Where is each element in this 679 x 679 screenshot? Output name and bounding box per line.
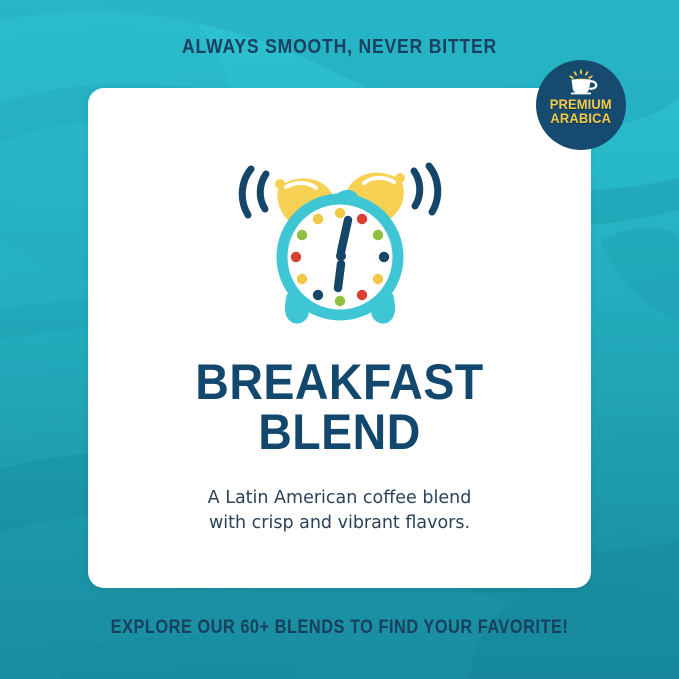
sound-wave-left xyxy=(242,169,266,215)
product-poster: ALWAYS SMOOTH, NEVER BITTER PREMIUM ARAB… xyxy=(0,0,679,679)
coffee-cup-icon xyxy=(562,69,600,95)
product-title-line2: BLEND xyxy=(106,408,574,458)
alarm-clock-icon xyxy=(224,146,456,336)
bottom-tagline: EXPLORE OUR 60+ BLENDS TO FIND YOUR FAVO… xyxy=(48,617,632,639)
product-description-line2: with crisp and vibrant flavors. xyxy=(88,511,591,536)
sound-wave-right xyxy=(414,166,438,212)
product-description: A Latin American coffee blend with crisp… xyxy=(88,486,591,536)
badge-label: PREMIUM ARABICA xyxy=(550,97,612,126)
product-description-line1: A Latin American coffee blend xyxy=(88,486,591,511)
premium-arabica-badge[interactable]: PREMIUM ARABICA xyxy=(536,60,626,150)
product-title-line1: BREAKFAST xyxy=(195,354,483,410)
product-card: BREAKFAST BLEND A Latin American coffee … xyxy=(88,88,591,588)
product-title: BREAKFAST BLEND xyxy=(106,358,574,457)
illustration-container xyxy=(88,146,591,336)
badge-label-line2: ARABICA xyxy=(550,111,612,125)
top-tagline: ALWAYS SMOOTH, NEVER BITTER xyxy=(41,36,639,59)
